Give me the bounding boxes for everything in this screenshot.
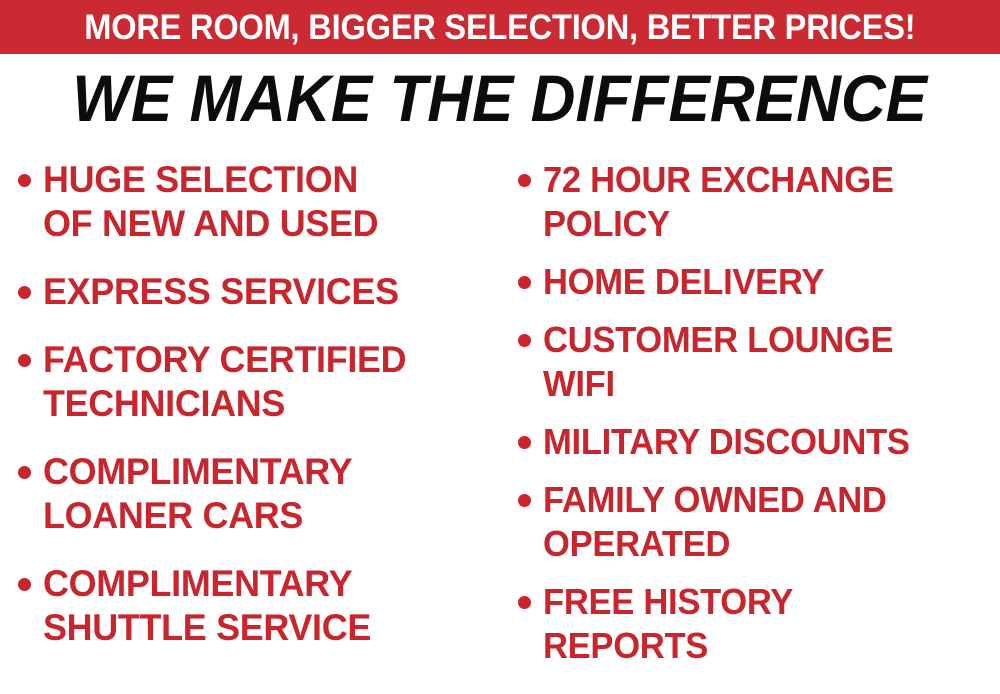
main-headline-container: WE MAKE THE DIFFERENCE xyxy=(0,62,1000,134)
list-item: HUGE SELECTION OF NEW AND USED xyxy=(18,158,510,246)
bullet-dot-icon xyxy=(18,354,31,367)
list-item-label: CUSTOMER LOUNGE WIFI xyxy=(543,318,893,406)
list-item: HOME DELIVERY xyxy=(518,260,1000,304)
bullet-dot-icon xyxy=(18,286,31,299)
bullet-dot-icon xyxy=(518,494,531,507)
bullet-dot-icon xyxy=(18,466,31,479)
bullet-dot-icon xyxy=(18,578,31,591)
list-item-label: FACTORY CERTIFIED TECHNICIANS xyxy=(43,338,406,426)
bullet-dot-icon xyxy=(518,436,531,449)
bullet-dot-icon xyxy=(518,596,531,609)
list-item: 72 HOUR EXCHANGE POLICY xyxy=(518,158,1000,246)
list-item-label: COMPLIMENTARY SHUTTLE SERVICE xyxy=(43,562,371,650)
list-item: MILITARY DISCOUNTS xyxy=(518,420,1000,464)
list-item-label: EXPRESS SERVICES xyxy=(43,270,399,314)
benefits-column-left: HUGE SELECTION OF NEW AND USED EXPRESS S… xyxy=(18,158,510,674)
top-banner: MORE ROOM, BIGGER SELECTION, BETTER PRIC… xyxy=(0,0,1000,54)
list-item: COMPLIMENTARY SHUTTLE SERVICE xyxy=(18,562,510,650)
banner-headline: MORE ROOM, BIGGER SELECTION, BETTER PRIC… xyxy=(84,10,915,45)
list-item-label: HOME DELIVERY xyxy=(543,260,824,304)
promo-poster: MORE ROOM, BIGGER SELECTION, BETTER PRIC… xyxy=(0,0,1000,694)
list-item: FREE HISTORY REPORTS xyxy=(518,580,1000,668)
bullet-dot-icon xyxy=(518,276,531,289)
list-item-label: COMPLIMENTARY LOANER CARS xyxy=(43,450,352,538)
list-item-label: FAMILY OWNED AND OPERATED xyxy=(543,478,887,566)
bullet-dot-icon xyxy=(518,334,531,347)
list-item-label: MILITARY DISCOUNTS xyxy=(543,420,910,464)
page-title: WE MAKE THE DIFFERENCE xyxy=(73,62,928,134)
benefits-column-right: 72 HOUR EXCHANGE POLICY HOME DELIVERY CU… xyxy=(518,158,1000,682)
list-item-label: 72 HOUR EXCHANGE POLICY xyxy=(543,158,894,246)
list-item-label: HUGE SELECTION OF NEW AND USED xyxy=(43,158,378,246)
list-item: FACTORY CERTIFIED TECHNICIANS xyxy=(18,338,510,426)
list-item-label: FREE HISTORY REPORTS xyxy=(543,580,793,668)
list-item: EXPRESS SERVICES xyxy=(18,270,510,314)
list-item: COMPLIMENTARY LOANER CARS xyxy=(18,450,510,538)
benefits-columns: HUGE SELECTION OF NEW AND USED EXPRESS S… xyxy=(0,158,1000,694)
list-item: FAMILY OWNED AND OPERATED xyxy=(518,478,1000,566)
list-item: CUSTOMER LOUNGE WIFI xyxy=(518,318,1000,406)
bullet-dot-icon xyxy=(518,174,531,187)
bullet-dot-icon xyxy=(18,174,31,187)
